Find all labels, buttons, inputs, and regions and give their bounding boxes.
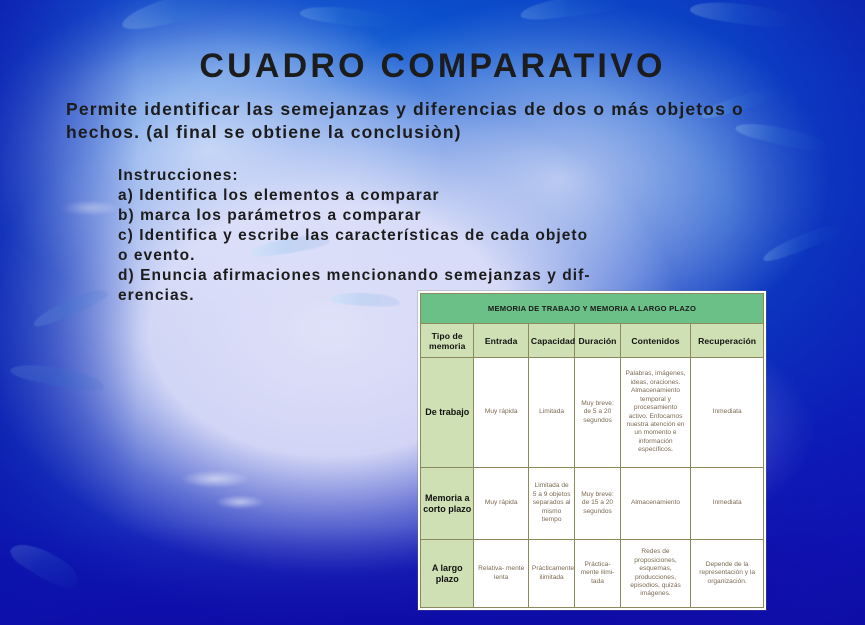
instruction-line: o evento. [118, 246, 818, 266]
table-cell: Prácticamente ilimitada [528, 540, 574, 608]
instruction-line: d) Enuncia afirmaciones mencionando seme… [118, 266, 818, 286]
table-cell: Inmediata [691, 468, 764, 540]
table-cell: Depende de la representación y la organi… [691, 540, 764, 608]
column-header-capacidad: Capacidad [528, 324, 574, 358]
light-caustic [60, 200, 120, 216]
table-cell: Inmediata [691, 358, 764, 468]
page-title: CUADRO COMPARATIVO [0, 47, 865, 86]
shark-icon [30, 286, 110, 330]
table-cell: Práctica- mente ilimi- tada [575, 540, 620, 608]
row-label: Memoria a corto plazo [421, 468, 474, 540]
row-label: De trabajo [421, 358, 474, 468]
table-title: MEMORIA DE TRABAJO Y MEMORIA A LARGO PLA… [421, 294, 764, 324]
light-caustic [215, 495, 265, 509]
table-cell: Palabras, imágenes, ideas, oraciones. Al… [620, 358, 691, 468]
column-header-entrada: Entrada [474, 324, 528, 358]
instructions-heading: Instrucciones: [118, 166, 818, 186]
table-cell: Muy rápida [474, 358, 528, 468]
table-cell: Muy breve: de 15 a 20 segundos [575, 468, 620, 540]
table-cell: Muy rápida [474, 468, 528, 540]
table-cell: Muy breve: de 5 a 20 segundos [575, 358, 620, 468]
column-header-tipo-de-memoria: Tipo de memoria [421, 324, 474, 358]
instructions-block: Instrucciones: a) Identifica los element… [118, 166, 818, 306]
table-cell: Almacenamiento [620, 468, 691, 540]
table-title-row: MEMORIA DE TRABAJO Y MEMORIA A LARGO PLA… [421, 294, 764, 324]
table-row: De trabajo Muy rápida Limitada Muy breve… [421, 358, 764, 468]
light-caustic [180, 470, 250, 488]
table-cell: Limitada [528, 358, 574, 468]
table-cell: Relativa- mente lenta [474, 540, 528, 608]
instruction-line: c) Identifica y escribe las característi… [118, 226, 818, 246]
shark-icon [519, 0, 630, 22]
column-header-duracion: Duración [575, 324, 620, 358]
shark-icon [7, 534, 84, 596]
table-cell: Limitada de 5 a 9 objetos separados al m… [528, 468, 574, 540]
table-row: A largo plazo Relativa- mente lenta Prác… [421, 540, 764, 608]
comparison-table-container: MEMORIA DE TRABAJO Y MEMORIA A LARGO PLA… [418, 291, 766, 610]
column-header-recuperacion: Recuperación [691, 324, 764, 358]
row-label: A largo plazo [421, 540, 474, 608]
page-subtitle: Permite identificar las semejanzas y dif… [66, 98, 816, 144]
table-cell: Redes de proposiciones, esquemas, produc… [620, 540, 691, 608]
comparison-table: MEMORIA DE TRABAJO Y MEMORIA A LARGO PLA… [420, 293, 764, 608]
slide-canvas: CUADRO COMPARATIVO Permite identificar l… [0, 0, 865, 625]
shark-icon [299, 1, 395, 31]
instruction-line: a) Identifica los elementos a comparar [118, 186, 818, 206]
table-header-row: Tipo de memoria Entrada Capacidad Duraci… [421, 324, 764, 358]
column-header-contenidos: Contenidos [620, 324, 691, 358]
table-row: Memoria a corto plazo Muy rápida Limitad… [421, 468, 764, 540]
instruction-line: b) marca los parámetros a comparar [118, 206, 818, 226]
shark-icon [119, 0, 252, 33]
shark-icon [689, 0, 796, 32]
shark-icon [9, 358, 106, 395]
